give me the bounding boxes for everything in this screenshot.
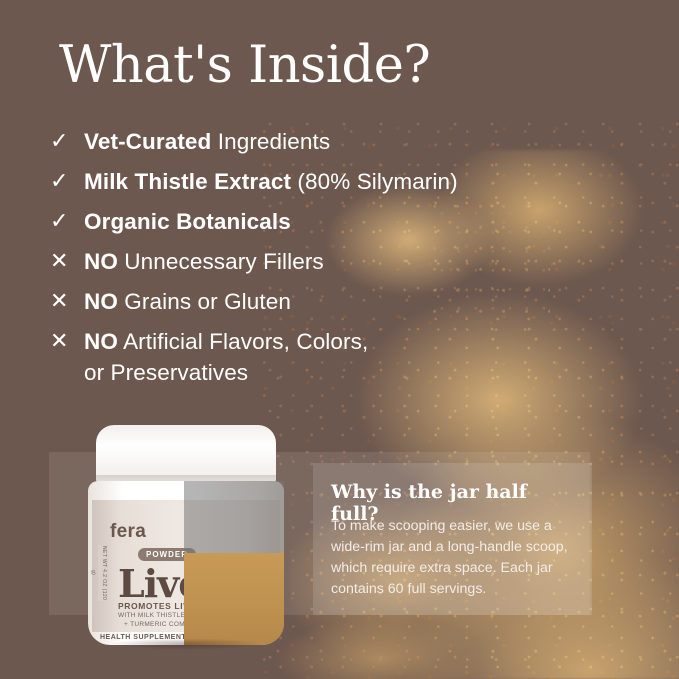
list-item-label: NO Artificial Flavors, Colors, or Preser… — [84, 326, 368, 388]
jar-side-strip: NET WT 4.2 OZ (120 g) — [98, 545, 109, 601]
cross-icon: ✕ — [50, 246, 84, 276]
jar-shadow — [78, 636, 294, 652]
list-item-rest: Unnecessary Fillers — [118, 249, 324, 274]
list-item-rest: (80% Silymarin) — [291, 169, 458, 194]
list-item-strong: Organic Botanicals — [84, 209, 291, 234]
list-item-label: Organic Botanicals — [84, 206, 291, 237]
list-item-strong: NO — [84, 289, 118, 314]
list-item: ✓ Vet-Curated Ingredients — [50, 126, 520, 157]
list-item: ✓ Organic Botanicals — [50, 206, 520, 237]
jar-cutaway-overlay — [184, 481, 284, 553]
brand-name: fera — [110, 521, 146, 543]
page-title: What's Inside? — [59, 36, 430, 95]
list-item-label: Milk Thistle Extract (80% Silymarin) — [84, 166, 458, 197]
list-item-label: NO Unnecessary Fillers — [84, 246, 324, 277]
cross-icon: ✕ — [50, 286, 84, 316]
list-item: ✕ NO Unnecessary Fillers — [50, 246, 520, 277]
list-item: ✕ NO Artificial Flavors, Colors, or Pres… — [50, 326, 520, 388]
jar-powder-fill — [184, 553, 284, 645]
info-panel-body: To make scooping easier, we use a wide-r… — [331, 516, 571, 600]
list-item-rest: Grains or Gluten — [118, 289, 291, 314]
list-item-label: NO Grains or Gluten — [84, 286, 291, 317]
check-icon: ✓ — [50, 166, 84, 196]
list-item-second-line: or Preservatives — [84, 357, 368, 388]
product-jar-image: NET WT 4.2 OZ (120 g) fera POWDER Liver … — [88, 425, 284, 647]
list-item-rest: Artificial Flavors, Colors, — [118, 329, 368, 354]
check-icon: ✓ — [50, 206, 84, 236]
list-item-strong: Milk Thistle Extract — [84, 169, 291, 194]
benefits-list: ✓ Vet-Curated Ingredients ✓ Milk Thistle… — [50, 126, 520, 397]
check-icon: ✓ — [50, 126, 84, 156]
list-item-strong: NO — [84, 329, 118, 354]
list-item-strong: NO — [84, 249, 118, 274]
list-item-rest: Ingredients — [211, 129, 330, 154]
list-item-label: Vet-Curated Ingredients — [84, 126, 330, 157]
list-item: ✕ NO Grains or Gluten — [50, 286, 520, 317]
list-item-strong: Vet-Curated — [84, 129, 211, 154]
product-infographic: What's Inside? ✓ Vet-Curated Ingredients… — [0, 0, 679, 679]
list-item: ✓ Milk Thistle Extract (80% Silymarin) — [50, 166, 520, 197]
cross-icon: ✕ — [50, 326, 84, 356]
